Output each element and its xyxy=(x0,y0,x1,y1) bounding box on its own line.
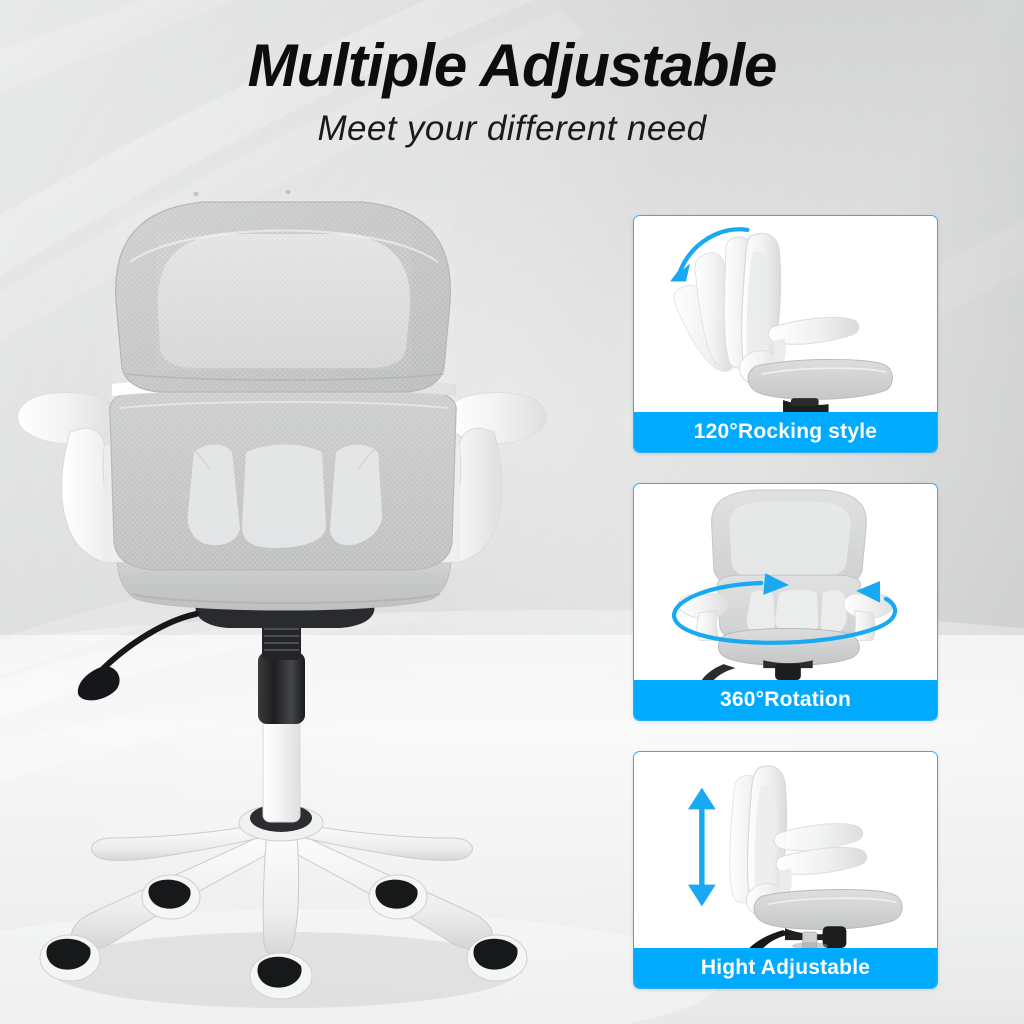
caster-wheel xyxy=(467,935,527,981)
vertical-double-arrow-icon xyxy=(688,788,716,907)
feature-card-height[interactable]: Hight Adjustable xyxy=(633,751,938,989)
infographic-canvas: Multiple Adjustable Meet your different … xyxy=(0,0,1024,1024)
feature-card-rotation[interactable]: 360°Rotation xyxy=(633,483,938,721)
feature-caption-rocking: 120°Rocking style xyxy=(634,412,937,452)
header-block: Multiple Adjustable Meet your different … xyxy=(0,34,1024,149)
chair-side-view-height-positions xyxy=(634,752,937,948)
lever-knob xyxy=(78,666,120,700)
page-title: Multiple Adjustable xyxy=(0,34,1024,97)
caster-wheel xyxy=(40,935,100,981)
feature-card-list: 120°Rocking style xyxy=(633,215,938,989)
chair-front-view-swivel xyxy=(634,484,937,680)
caster-wheel xyxy=(142,875,200,919)
lumbar-mesh-panel xyxy=(110,390,458,572)
page-subtitle: Meet your different need xyxy=(0,109,1024,149)
caster-wheel xyxy=(369,875,427,919)
height-lever xyxy=(96,614,196,676)
chair-illustration xyxy=(0,170,620,1024)
hero-chair-image xyxy=(0,170,620,1024)
backrest-mesh-panel xyxy=(114,190,454,394)
feature-caption-rotation: 360°Rotation xyxy=(634,680,937,720)
feature-caption-height: Hight Adjustable xyxy=(634,948,937,988)
caster-wheel xyxy=(250,953,312,999)
gas-cylinder xyxy=(258,622,305,822)
chair-side-view-reclining-positions xyxy=(634,216,937,412)
feature-card-rocking[interactable]: 120°Rocking style xyxy=(633,215,938,453)
